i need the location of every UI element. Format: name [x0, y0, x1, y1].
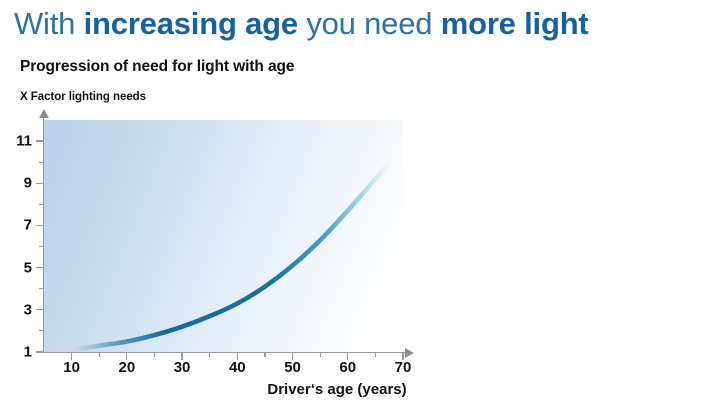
y-minor-tick-4 — [39, 288, 43, 289]
y-axis-line — [43, 117, 44, 353]
x-minor-tick-15 — [99, 353, 100, 357]
y-minor-tick-6 — [39, 246, 43, 247]
y-minor-tick-2 — [39, 330, 43, 331]
y-tick-3 — [36, 309, 43, 310]
y-tick-label-9: 9 — [8, 175, 32, 192]
y-minor-tick-10 — [39, 162, 43, 163]
y-tick-9 — [36, 183, 43, 184]
x-tick-label-20: 20 — [119, 359, 136, 376]
x-minor-tick-45 — [264, 353, 265, 357]
x-tick-label-60: 60 — [339, 359, 356, 376]
x-tick-label-10: 10 — [63, 359, 80, 376]
y-tick-label-1: 1 — [8, 344, 32, 361]
x-tick-label-70: 70 — [395, 359, 412, 376]
y-tick-7 — [36, 225, 43, 226]
y-tick-label-3: 3 — [8, 301, 32, 318]
x-minor-tick-25 — [154, 353, 155, 357]
line-chart: 102030405060701357911 Driver‘s age (year… — [0, 0, 720, 405]
y-tick-label-5: 5 — [8, 259, 32, 276]
x-axis-title: Driver‘s age (years) — [267, 381, 406, 398]
y-tick-label-7: 7 — [8, 217, 32, 234]
y-tick-label-11: 11 — [8, 133, 32, 150]
x-tick-label-40: 40 — [229, 359, 246, 376]
y-tick-1 — [36, 351, 43, 352]
x-axis-arrow-icon — [405, 348, 414, 358]
x-minor-tick-55 — [320, 353, 321, 357]
x-minor-tick-35 — [209, 353, 210, 357]
y-tick-5 — [36, 267, 43, 268]
x-tick-label-50: 50 — [284, 359, 301, 376]
y-minor-tick-8 — [39, 204, 43, 205]
x-tick-label-30: 30 — [174, 359, 191, 376]
x-minor-tick-65 — [375, 353, 376, 357]
y-tick-11 — [36, 140, 43, 141]
plot-area-background — [44, 120, 403, 352]
y-axis-arrow-icon — [39, 109, 49, 118]
